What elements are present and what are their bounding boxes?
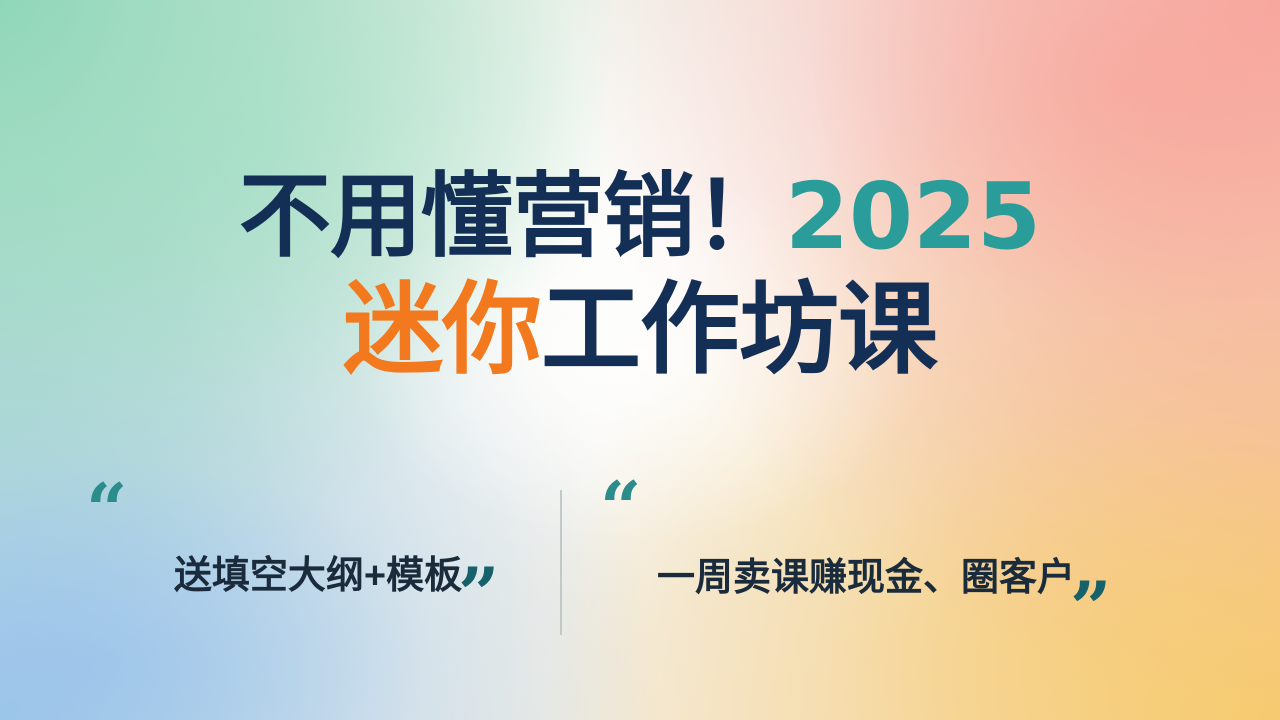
quote-close-icon: ” (1070, 572, 1111, 644)
headline-line-2-main: 工作坊课 (541, 274, 937, 386)
quotes-row: “ 送填空大纲+模板 ” “ 一周卖课赚现金、圈客户 ” (0, 482, 1280, 662)
headline-line-2: 迷你工作坊课 (0, 277, 1280, 383)
headline-block: 不用懂营销！2025 迷你工作坊课 (0, 168, 1280, 383)
quotes-divider (560, 490, 562, 635)
quote-open-icon: “ (600, 472, 641, 544)
quote-right-text: 一周卖课赚现金、圈客户 (606, 546, 1126, 601)
poster-content: 不用懂营销！2025 迷你工作坊课 “ 送填空大纲+模板 ” “ 一周卖课赚现金… (0, 0, 1280, 720)
quote-left-text: 送填空大纲+模板 (58, 544, 578, 599)
headline-line-2-highlight: 迷你 (343, 274, 541, 386)
quote-open-icon: “ (86, 474, 127, 546)
headline-line-1: 不用懂营销！2025 (0, 168, 1280, 267)
headline-year: 2025 (785, 163, 1041, 270)
quote-close-icon: ” (458, 558, 499, 630)
poster-canvas: 不用懂营销！2025 迷你工作坊课 “ 送填空大纲+模板 ” “ 一周卖课赚现金… (0, 0, 1280, 720)
headline-line-1-main: 不用懂营销！ (239, 166, 785, 268)
